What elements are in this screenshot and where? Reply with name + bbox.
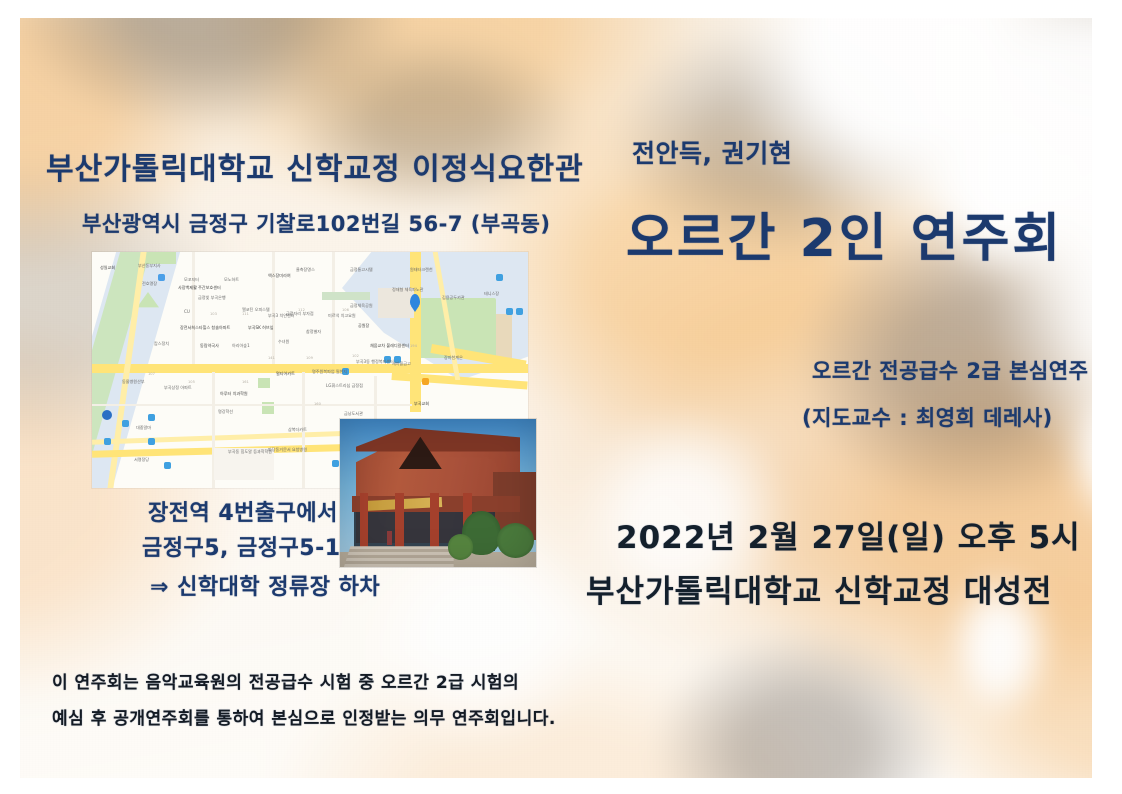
map-poi-label: 부곡상정 아파트 (164, 386, 192, 391)
map-poi-label: 미르낵 치고요원 (328, 314, 356, 319)
map-poi-label: 멀티어카트 (276, 372, 295, 377)
map-poi-label: 동물병원산부 (122, 380, 145, 385)
map-poi-label: 금정체육공원 (350, 304, 373, 309)
map-poi-label: 삼복더카트 (288, 428, 307, 433)
map-destination-pin[interactable] (410, 294, 420, 308)
poster-paper: 성일교회부산동부지사모꼬지터모노하트엑스장미라여율축장명스금정통고시텔원태타크렌… (20, 18, 1092, 778)
map-poi-label: 대중알마 (136, 426, 151, 431)
map-road-horizontal-main (92, 364, 528, 373)
map-poi-label: 부곡교회 (414, 402, 429, 407)
map-street-b (272, 252, 275, 364)
photo-tree-3 (448, 534, 473, 559)
directions-line-3: ⇒ 신학대학 정류장 하차 (150, 569, 380, 601)
map-poi-label: 정재형 체육파노관 (392, 288, 423, 293)
map-poi-label: 금정빛 부곡은행 (198, 296, 226, 301)
map-road-number: 109 (306, 356, 313, 360)
map-poi-label: 모꼬지터 (184, 278, 199, 283)
map-tennis-court (496, 314, 512, 360)
map-poi-label: CU (184, 310, 190, 315)
recital-venue-hall: 부산가톨릭대학교 신학교정 대성전 (586, 566, 1052, 611)
poster-scan: 성일교회부산동부지사모꼬지터모노하트엑스장미라여율축장명스금정통고시텔원태타크렌… (0, 0, 1122, 794)
map-poi-marker-15[interactable] (164, 462, 171, 469)
map-poi-marker-10[interactable] (158, 274, 165, 281)
map-street-c (332, 252, 335, 364)
footnote-line-1: 이 연주회는 음악교육원의 전공급수 시험 중 오르간 2급 시험의 (52, 668, 519, 693)
map-bus-marker-3[interactable] (104, 438, 111, 445)
map-poi-label: 서명정당 (134, 458, 149, 463)
map-road-vertical-main (410, 252, 421, 412)
map-poi-label: 금낭도서관 (344, 412, 363, 417)
map-road-number: 112 (298, 308, 305, 312)
map-bus-marker-1[interactable] (122, 420, 129, 427)
map-poi-label: 전호명장 (142, 282, 157, 287)
map-poi-label: 공원장 (358, 324, 369, 329)
map-street-a (192, 252, 195, 364)
map-poi-label: 테니스장 (484, 292, 499, 297)
photo-column-1 (360, 493, 369, 552)
map-poi-label: 율축장명스 (296, 268, 315, 273)
map-poi-label: 원태타크렌천 (410, 268, 433, 273)
map-poi-label: 아루터 치과학원 (220, 392, 248, 397)
map-poi-label: 수녀원 (278, 340, 289, 345)
map-poi-label: 엑스장미라여 (268, 274, 291, 279)
map-road-number: 141 (268, 356, 275, 360)
map-road-number: 106 (342, 308, 349, 312)
venue-building-heading: 부산가톨릭대학교 신학교정 이정식요한관 (46, 144, 584, 188)
map-road-number: 160 (314, 402, 321, 406)
photo-column-2 (395, 493, 404, 552)
map-bus-marker-4[interactable] (148, 438, 155, 445)
photo-tree-2 (497, 523, 534, 559)
map-bus-marker-9[interactable] (332, 460, 339, 467)
map-poi-label: 동림약국사 (200, 344, 219, 349)
map-road-number: 111 (242, 312, 249, 316)
directions-line-2: 금정구5, 금정구5-1 (142, 530, 341, 562)
map-poi-label: 채움교차 불레디칼센터 (370, 344, 409, 349)
footnote-line-2: 예심 후 공개연주회를 통하여 본심으로 인정받는 의무 연주회입니다. (52, 704, 556, 729)
venue-address: 부산광역시 금정구 기찰로102번길 56-7 (부곡동) (82, 208, 550, 238)
photo-person (387, 531, 392, 544)
map-poi-label: 금정통고시텔 (350, 268, 373, 273)
map-road-number: 103 (210, 312, 217, 316)
map-road-number: 107 (148, 372, 155, 376)
map-poi-label: 김용공두카관 (442, 296, 465, 301)
recital-subtitle-professor: (지도교수 : 최영희 데레사) (802, 402, 1053, 432)
map-building-strip (322, 292, 370, 300)
map-road-number: 194 (410, 344, 417, 348)
poster-title: 오르간 2인 연주회 (626, 196, 1063, 271)
map-poi-label: 장마천계은 (444, 356, 463, 361)
map-poi-marker-13[interactable] (516, 308, 523, 315)
map-poi-label: 명주원복파업 필천지 (312, 370, 347, 375)
map-road-number: 161 (242, 380, 249, 384)
map-poi-label: 성일교회 (100, 266, 115, 271)
map-poi-label: 장전서희스타힐스 청솔아파트 (180, 326, 230, 331)
map-poi-label: 새마을금고 (392, 362, 411, 367)
map-poi-marker-14[interactable] (422, 378, 429, 385)
map-poi-marker-12[interactable] (506, 308, 513, 315)
map-poi-label: 캄스정치 (154, 342, 169, 347)
map-poi-label: 부곡3동 행정복지센터 (356, 360, 394, 365)
map-poi-label: 명강학선 (218, 410, 233, 415)
map-poi-label: 부곡동 힘도알 등과학학원 (228, 450, 272, 455)
map-subway-marker[interactable] (102, 410, 112, 420)
map-poi-label: 마당동거문서 요청병원 (268, 448, 307, 453)
map-bus-marker-2[interactable] (148, 414, 155, 421)
map-poi-label: 아리아숲1 (232, 344, 250, 349)
map-poi-label: 금정자리 부자점 (286, 312, 314, 317)
map-street-g (92, 404, 412, 406)
map-poi-label: 부산동부지사 (138, 264, 161, 269)
photo-entrance-steps (344, 546, 454, 567)
map-road-number: 102 (352, 354, 359, 358)
map-poi-label: LG휘스트리십 금정점 (326, 384, 363, 389)
building-photo (340, 419, 536, 567)
recital-subtitle-grade: 오르간 전공급수 2급 본심연주 (812, 355, 1088, 385)
recital-datetime: 2022년 2월 27일(일) 오후 5시 (616, 512, 1081, 557)
map-poi-label: 사장백제활 주간보호센터 (178, 286, 221, 291)
map-poi-label: 부곡SK 허브잎 (248, 326, 273, 331)
map-poi-label: 모노하트 (224, 278, 239, 283)
photo-column-3 (430, 493, 439, 552)
map-road-number: 105 (188, 380, 195, 384)
map-poi-marker-11[interactable] (496, 274, 503, 281)
map-green-patch-3 (258, 378, 270, 388)
directions-line-1: 장전역 4번출구에서 (148, 495, 338, 527)
map-poi-label: 참정별자 (306, 330, 321, 335)
performer-names: 전안득, 권기현 (632, 134, 792, 170)
